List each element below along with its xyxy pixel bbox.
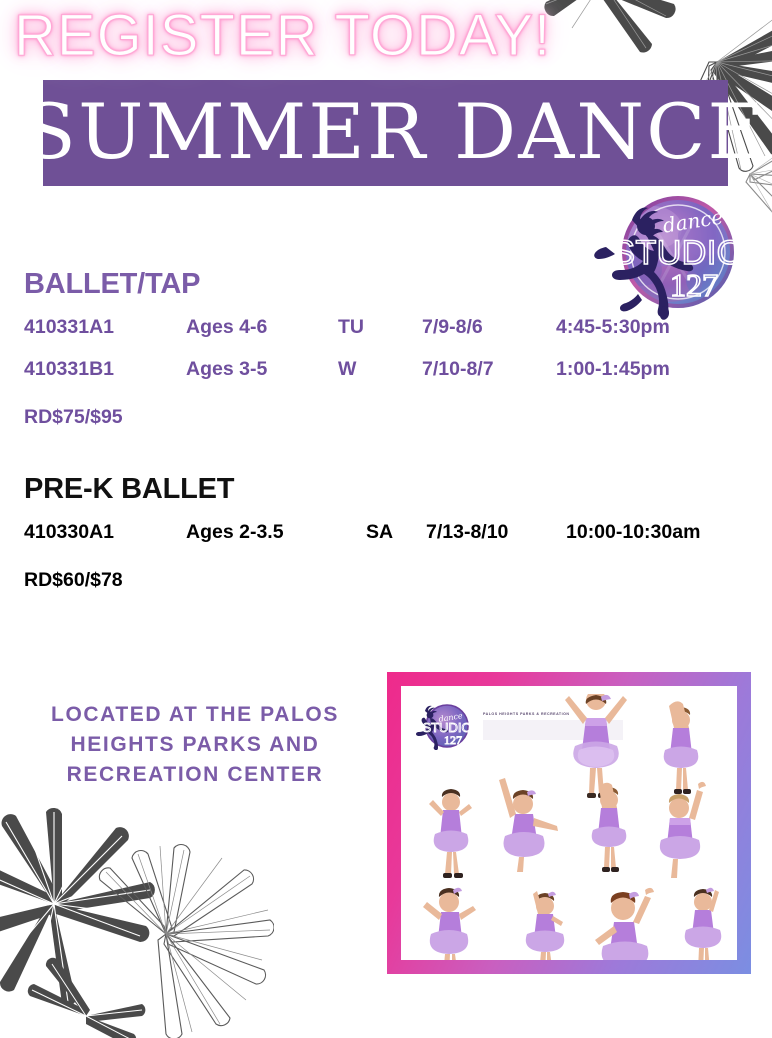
- register-today-headline: REGISTER TODAY!: [14, 2, 551, 69]
- dancer-photo: [517, 886, 573, 960]
- class-time: 1:00-1:45pm: [556, 358, 670, 381]
- logo-number: 127: [670, 267, 718, 303]
- class-row: 410331B1 Ages 3-5 W 7/10-8/7 1:00-1:45pm: [0, 358, 772, 400]
- floral-decoration-bottom-left: [0, 788, 274, 1038]
- class-days: TU: [338, 316, 364, 339]
- dance-studio-127-logo: dance STUDIO 127: [582, 184, 758, 324]
- class-ages: Ages 3-5: [186, 358, 267, 381]
- dancer-photo: [485, 770, 571, 876]
- location-text: LOCATED AT THE PALOS HEIGHTS PARKS AND R…: [20, 700, 370, 790]
- dancer-photo: [583, 780, 635, 878]
- class-dates: 7/13-8/10: [426, 521, 508, 544]
- class-code: 410330A1: [24, 521, 114, 544]
- class-ages: Ages 4-6: [186, 316, 267, 339]
- collage-inner: dance STUDIO 127 PALOS HEIGHTS PARKS & R…: [401, 686, 737, 960]
- class-time: 10:00-10:30am: [566, 521, 700, 544]
- photo-collage: dance STUDIO 127 PALOS HEIGHTS PARKS & R…: [387, 672, 751, 974]
- section-title-pre-k-ballet: PRE-K BALLET: [24, 473, 772, 506]
- dancer-photo: [649, 778, 711, 884]
- class-dates: 7/10-8/7: [422, 358, 494, 381]
- class-days: W: [338, 358, 356, 381]
- section-pre-k-ballet: PRE-K BALLET 410330A1 Ages 2-3.5 SA 7/13…: [0, 473, 772, 592]
- class-price: RD$75/$95: [24, 400, 772, 429]
- class-dates: 7/9-8/6: [422, 316, 483, 339]
- class-code: 410331A1: [24, 316, 114, 339]
- class-days: SA: [366, 521, 393, 544]
- collage-studio-logo: dance STUDIO 127: [411, 702, 473, 750]
- collage-logo-number: 127: [444, 733, 462, 747]
- class-ages: Ages 2-3.5: [186, 521, 284, 544]
- dancer-photo: [415, 882, 487, 960]
- dancer-photo: [587, 878, 667, 960]
- class-price: RD$60/$78: [24, 563, 772, 592]
- class-code: 410331B1: [24, 358, 114, 381]
- summer-dance-title: SUMMER DANCE: [54, 78, 734, 184]
- class-row: 410330A1 Ages 2-3.5 SA 7/13-8/10 10:00-1…: [0, 521, 772, 563]
- summer-dance-banner: SUMMER DANCE: [43, 80, 728, 186]
- dancer-photo: [677, 880, 729, 960]
- dancer-photo: [423, 782, 485, 886]
